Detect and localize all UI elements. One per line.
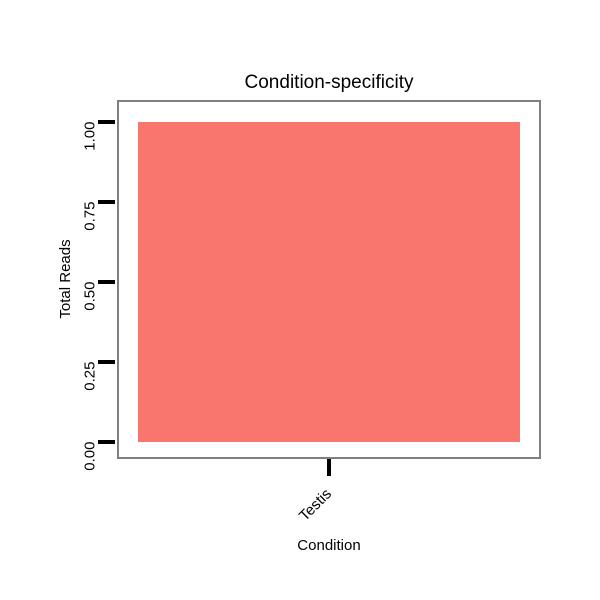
y-tick-mark — [98, 360, 115, 364]
chart-figure: Condition-specificity Total Reads 0.000.… — [0, 0, 600, 600]
y-tick-label: 0.00 — [82, 442, 99, 532]
plot-panel — [117, 100, 541, 459]
x-tick-mark — [327, 459, 331, 476]
y-tick-mark — [98, 440, 115, 444]
x-axis-title: Condition — [117, 537, 541, 554]
y-tick-label: 0.75 — [82, 202, 99, 292]
y-tick-label: 0.50 — [82, 282, 99, 372]
y-tick-label: 1.00 — [82, 122, 99, 212]
y-axis-title: Total Reads — [57, 219, 74, 339]
y-tick-label: 0.25 — [82, 362, 99, 452]
y-tick-mark — [98, 200, 115, 204]
plot-area — [119, 102, 539, 457]
y-tick-mark — [98, 120, 115, 124]
bar-testis — [138, 122, 520, 442]
chart-title: Condition-specificity — [117, 72, 541, 94]
y-tick-mark — [98, 280, 115, 284]
